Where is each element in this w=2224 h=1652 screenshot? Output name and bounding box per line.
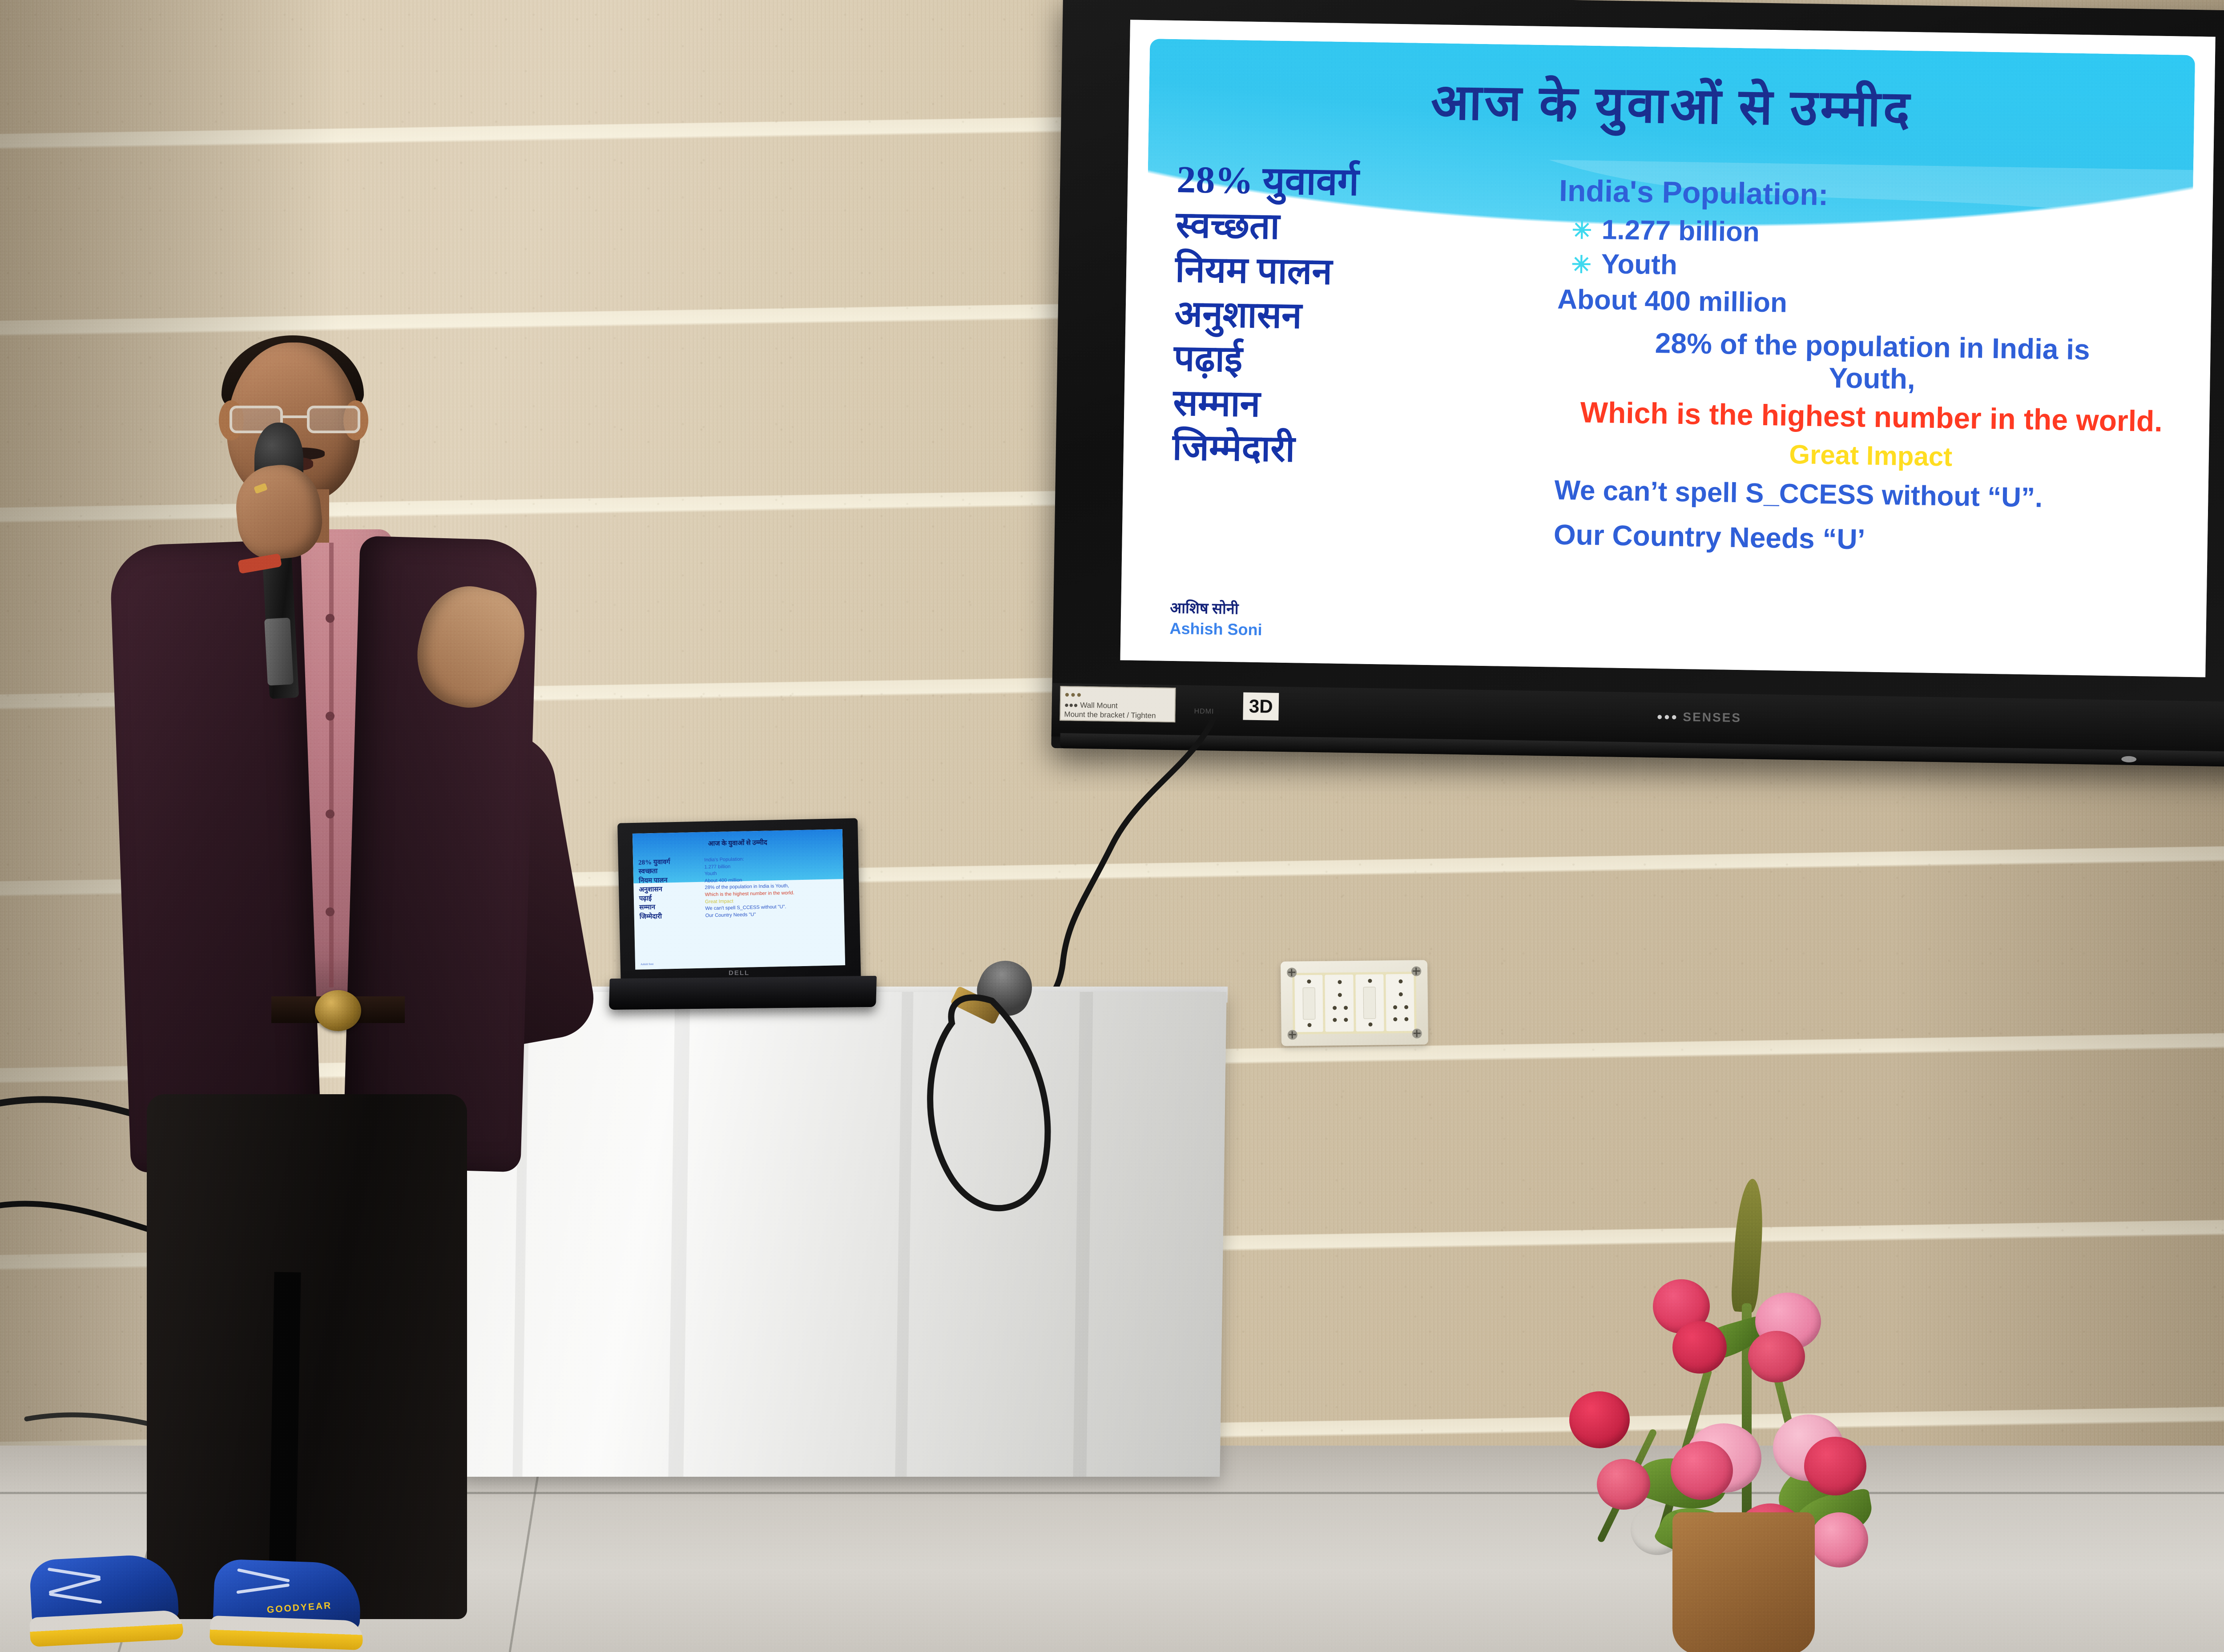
closing-line: Our Country Needs “U’	[1553, 518, 2185, 560]
shirt-placket	[329, 543, 334, 987]
laptop-slide-left-column: 28% युवावर्ग स्वच्छता नियम पालन अनुशासन …	[638, 857, 702, 922]
presenter: GOODYEAR	[80, 338, 578, 1652]
slide-left-item-6: जिम्मेदारी	[1172, 425, 1537, 475]
tv-3d-badge: 3D	[1243, 693, 1279, 721]
wall-mounted-tv[interactable]: आज के युवाओं से उम्मीद 28% युवावर्ग स्वच…	[1051, 0, 2224, 768]
bullet-text-0: 1.277 billion	[1601, 214, 1760, 248]
wall-switch-2[interactable]	[1355, 974, 1384, 1031]
left-shoe-laces	[48, 1570, 112, 1613]
slide-left-column: 28% युवावर्ग स्वच्छता नियम पालन अनुशासन …	[1172, 156, 1542, 475]
author-name-english: Ashish Soni	[1169, 619, 1262, 639]
wall-socket-2[interactable]	[1386, 974, 1414, 1031]
success-line: We can’t spell S_CCESS without “U”.	[1554, 475, 2186, 516]
left-shoe	[29, 1553, 180, 1650]
about-line: About 400 million	[1557, 284, 2189, 325]
slide-left-item-4: पढ़ाई	[1173, 336, 1539, 387]
sticker-line-2: Mount the bracket / Tighten	[1064, 709, 1171, 721]
microphone-grip	[264, 618, 294, 686]
tv-brand-text: SENSES	[1683, 710, 1741, 725]
bullet-row-0: ✳ 1.277 billion	[1571, 214, 2190, 255]
highlight-yellow-line: Great Impact	[1555, 435, 2187, 475]
author-name-hindi: आशिष सोनी	[1170, 597, 1263, 619]
tv-power-led	[2121, 756, 2136, 763]
flower-vase	[1672, 1512, 1815, 1652]
laptop-slide-right-column: India's Population: 1.277 billion Youth …	[704, 854, 839, 919]
right-shoe-sole	[210, 1616, 363, 1650]
tv-screen[interactable]: आज के युवाओं से उम्मीद 28% युवावर्ग स्वच…	[1120, 20, 2215, 677]
flower-spike-bud	[1730, 1178, 1766, 1313]
wall-switchboard[interactable]	[1281, 960, 1428, 1046]
presenter-laptop[interactable]: आज के युवाओं से उम्मीद 28% युवावर्ग स्वच…	[609, 821, 876, 1007]
belt-buckle	[315, 990, 361, 1031]
highlight-red-line: Which is the highest number in the world…	[1555, 396, 2188, 438]
slide-right-column: India's Population: ✳ 1.277 billion ✳ Yo…	[1553, 173, 2191, 561]
hdmi-port-label: HDMI	[1194, 708, 1214, 716]
wall-switch-1[interactable]	[1294, 975, 1323, 1032]
sticker-dots: ●●●	[1064, 689, 1171, 702]
stat-block: 28% of the population in India is Youth,	[1556, 326, 2188, 400]
tv-led-indicators: ●●●	[1656, 711, 1678, 723]
wall-socket-1[interactable]	[1325, 975, 1354, 1032]
laptop-base[interactable]	[609, 976, 877, 1010]
asterisk-bullet-icon: ✳	[1571, 216, 1592, 245]
bullet-text-1: Youth	[1601, 248, 1677, 281]
slide-author-credit: आशिष सोनी Ashish Soni	[1169, 597, 1262, 639]
laptop-screen[interactable]: आज के युवाओं से उम्मीद 28% युवावर्ग स्वच…	[633, 829, 845, 970]
bullet-row-1: ✳ Youth	[1571, 248, 2190, 289]
laptop-brand-logo: DELL	[729, 969, 749, 977]
presenter-trousers	[147, 1094, 467, 1619]
tv-warning-sticker: ●●● ●●● Wall Mount Mount the bracket / T…	[1060, 686, 1176, 722]
slide-left-item-0: 28% युवावर्ग	[1176, 156, 1542, 209]
tv-brand-logo: ●●● SENSES	[1656, 709, 1741, 725]
slide-left-item-2: नियम पालन	[1175, 247, 1540, 298]
laptop-left-item-6: जिम्मेदारी	[640, 911, 702, 921]
slide-left-item-5: सम्मान	[1173, 381, 1538, 431]
presentation-photo-scene: आज के युवाओं से उम्मीद 28% युवावर्ग स्वच…	[0, 0, 2224, 1652]
slide-left-item-3: अनुशासन	[1174, 292, 1539, 342]
right-shoe: GOODYEAR	[212, 1559, 362, 1652]
switchboard-plate	[1292, 972, 1416, 1035]
flower-arrangement	[1526, 1174, 1970, 1652]
laptop-slide-author: Ashish Soni	[641, 963, 653, 966]
presentation-slide: आज के युवाओं से उम्मीद 28% युवावर्ग स्वच…	[1120, 20, 2215, 677]
slide-left-item-1: स्वच्छता	[1176, 203, 1541, 253]
asterisk-bullet-icon: ✳	[1571, 250, 1591, 279]
